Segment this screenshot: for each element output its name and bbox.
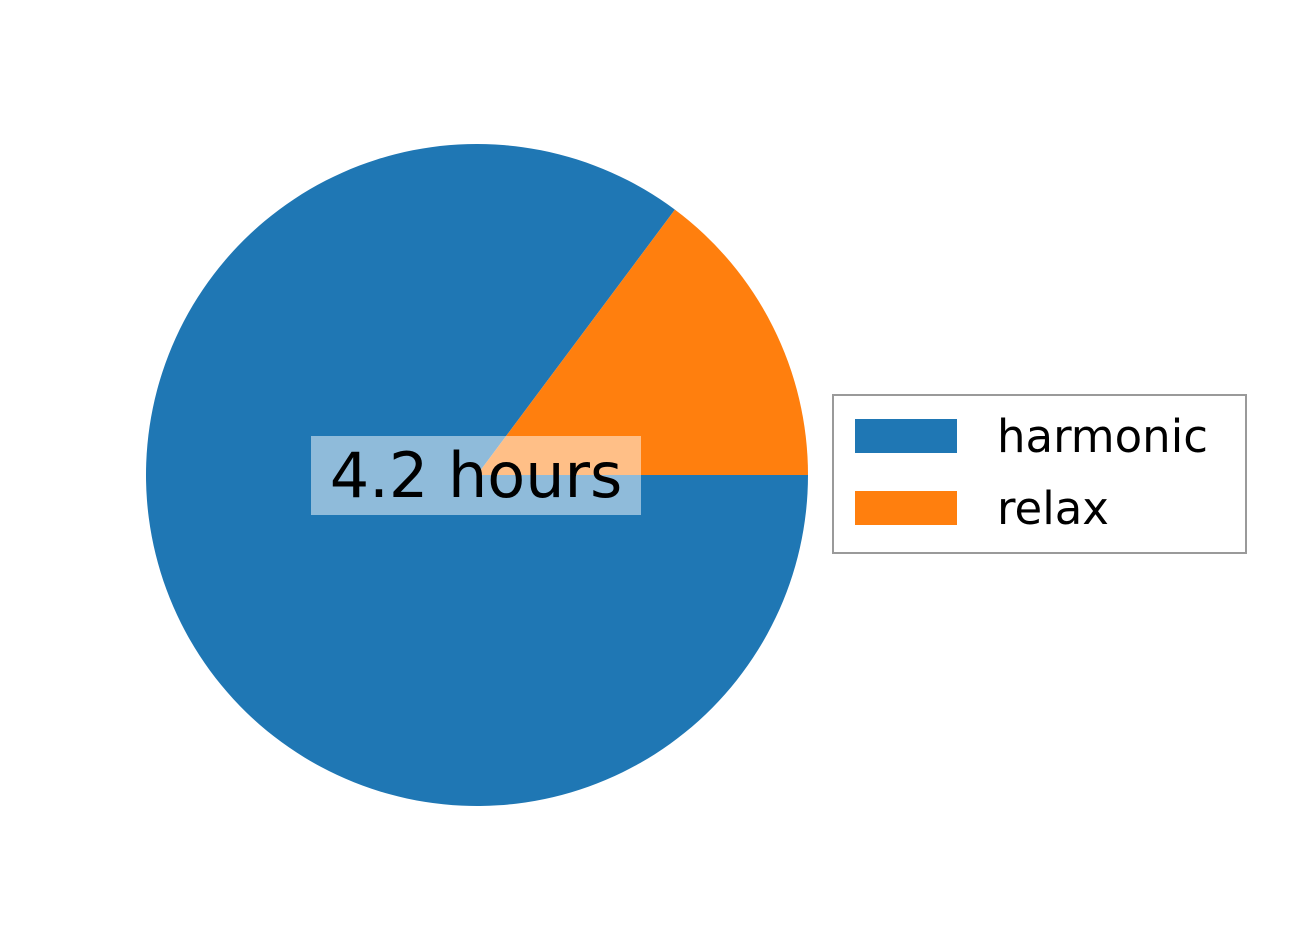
legend-label-relax: relax bbox=[997, 486, 1109, 531]
center-value-label-text: 4.2 hours bbox=[330, 445, 623, 507]
legend-swatch-harmonic bbox=[855, 419, 957, 453]
legend-label-harmonic: harmonic bbox=[997, 414, 1208, 459]
legend-swatch-relax bbox=[855, 491, 957, 525]
center-value-label: 4.2 hours bbox=[311, 436, 641, 515]
chart-figure: 4.2 hours harmonic relax bbox=[0, 0, 1307, 951]
legend-entry-relax[interactable]: relax bbox=[834, 482, 1245, 534]
chart-legend: harmonic relax bbox=[832, 394, 1247, 554]
legend-entry-harmonic[interactable]: harmonic bbox=[834, 410, 1245, 462]
